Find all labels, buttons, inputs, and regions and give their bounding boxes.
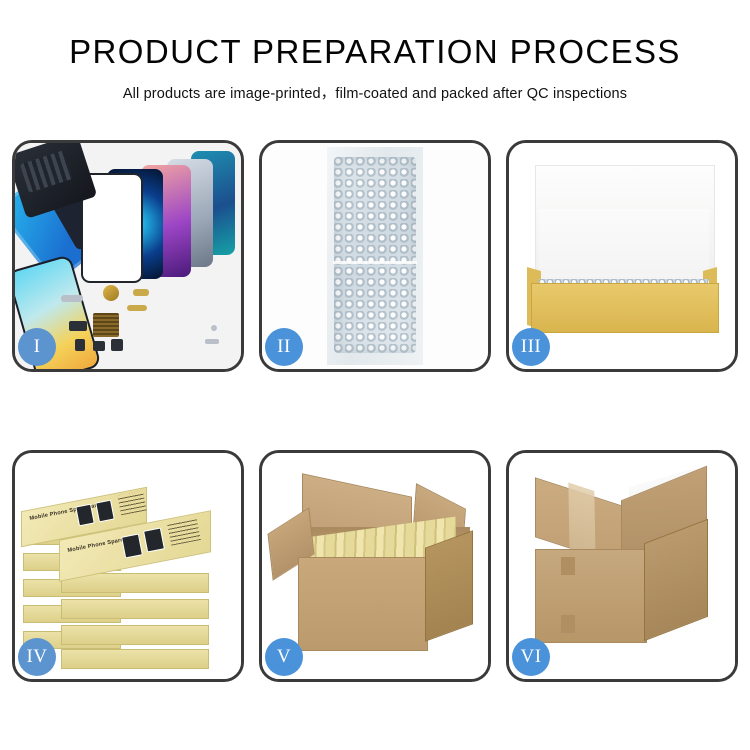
carton-side-icon — [425, 530, 473, 641]
carton-front-face-icon — [535, 549, 647, 643]
stacked-box — [61, 649, 209, 669]
metal-bracket-icon — [61, 295, 83, 302]
step-badge-3: III — [512, 328, 550, 366]
step-numeral-6: VI — [520, 646, 541, 668]
kraft-box-body-icon — [531, 283, 719, 333]
page-header: PRODUCT PREPARATION PROCESS All products… — [0, 0, 750, 103]
connector-icon — [69, 321, 87, 331]
screwdriver-icon — [205, 339, 219, 344]
step-badge-1: I — [18, 328, 56, 366]
box-screen-thumbnail — [121, 533, 143, 558]
box-screen-thumbnail — [143, 527, 165, 552]
step-numeral-5: V — [277, 646, 291, 668]
flex-cable-2-icon — [127, 305, 147, 311]
wrap-seam-icon — [333, 261, 417, 264]
bubble-wrap-icon — [334, 157, 416, 353]
step-badge-5: V — [265, 638, 303, 676]
stacked-box — [61, 625, 209, 645]
page-subtitle: All products are image-printed，film-coat… — [0, 82, 750, 103]
step-badge-2: II — [265, 328, 303, 366]
chip-grid-icon — [93, 313, 119, 337]
flex-cable-icon — [133, 289, 149, 296]
step-badge-6: VI — [512, 638, 550, 676]
step-numeral-4: IV — [26, 646, 47, 668]
page-title: PRODUCT PREPARATION PROCESS — [0, 34, 750, 70]
screw-icon — [211, 325, 217, 331]
camera-module-icon — [93, 341, 105, 351]
carton-front-icon — [298, 557, 428, 651]
button-part-icon — [75, 339, 85, 351]
speaker-coil-icon — [103, 285, 119, 301]
process-step-panel-2: II — [259, 140, 491, 372]
process-step-panel-6: VI — [506, 450, 738, 682]
step-numeral-3: III — [521, 336, 541, 358]
step-numeral-2: II — [277, 336, 291, 358]
stacked-box — [61, 599, 209, 619]
step-badge-4: IV — [18, 638, 56, 676]
step-numeral-1: I — [34, 336, 41, 358]
carton-tab-icon — [561, 615, 575, 633]
process-step-panel-3: III — [506, 140, 738, 372]
process-step-panel-5: V — [259, 450, 491, 682]
vibrator-icon — [111, 339, 123, 351]
process-step-panel-4: Mobile Phone Spare Parts Mobile Phone Sp… — [12, 450, 244, 682]
process-step-grid: I II III — [12, 140, 738, 682]
foam-lining-icon — [539, 209, 709, 285]
process-step-panel-1: I — [12, 140, 244, 372]
carton-tab-icon — [561, 557, 575, 575]
